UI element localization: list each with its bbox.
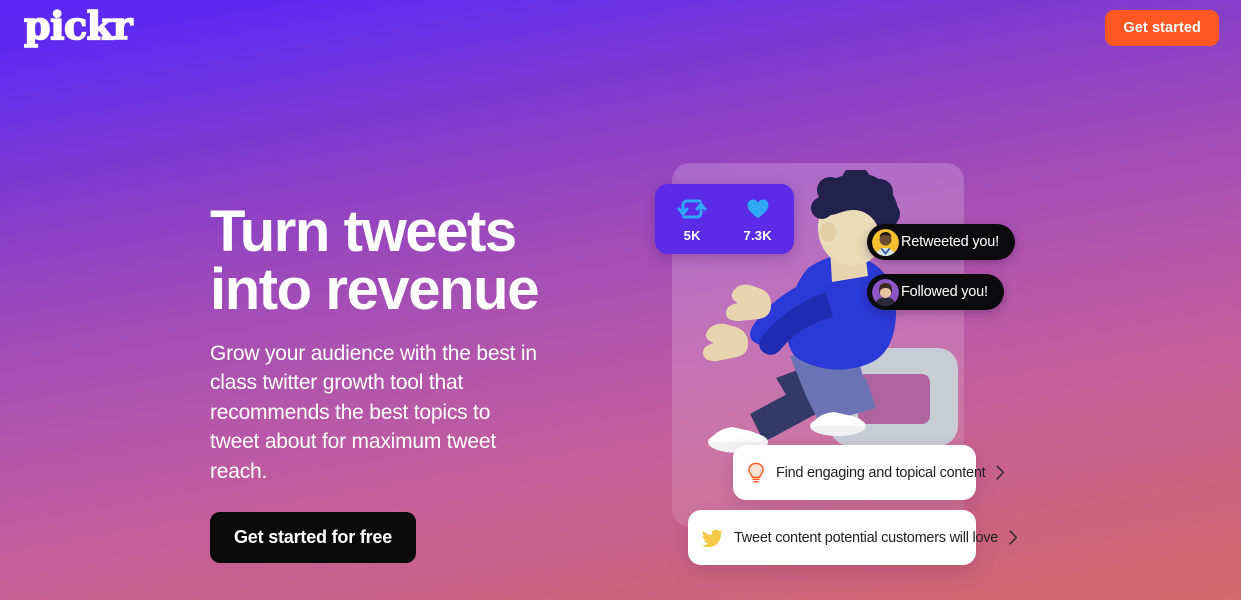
page-title: Turn tweets into revenue bbox=[210, 203, 680, 319]
hero-subtext: Grow your audience with the best in clas… bbox=[210, 339, 540, 486]
feature-card-find-content[interactable]: Find engaging and topical content bbox=[733, 445, 976, 500]
lightbulb-icon bbox=[747, 462, 765, 484]
notification-retweeted[interactable]: Retweeted you! bbox=[867, 224, 1015, 260]
feature-card-tweet-content[interactable]: Tweet content potential customers will l… bbox=[688, 510, 976, 565]
brand-logo[interactable]: pickr bbox=[24, 7, 132, 49]
hero-visual: 5K 7.3K Retweeted you! bbox=[650, 150, 1050, 580]
retweet-count: 5K bbox=[684, 228, 701, 243]
avatar-retweet-icon bbox=[872, 229, 899, 256]
retweet-icon bbox=[677, 198, 707, 225]
notification-retweeted-label: Retweeted you! bbox=[901, 234, 999, 250]
feature-card-tweet-content-label: Tweet content potential customers will l… bbox=[734, 530, 998, 546]
twitter-bird-icon bbox=[702, 529, 723, 547]
feature-card-find-content-label: Find engaging and topical content bbox=[776, 465, 985, 481]
stat-item-likes: 7.3K bbox=[744, 198, 772, 243]
hero-copy: Turn tweets into revenue Grow your audie… bbox=[210, 203, 680, 563]
get-started-for-free-button[interactable]: Get started for free bbox=[210, 512, 416, 563]
chevron-right-icon bbox=[996, 465, 1005, 480]
notification-followed-label: Followed you! bbox=[901, 284, 988, 300]
get-started-button[interactable]: Get started bbox=[1105, 10, 1219, 46]
site-header: pickr Get started bbox=[0, 0, 1241, 56]
chevron-right-icon bbox=[1009, 530, 1018, 545]
avatar-follow-icon bbox=[872, 279, 899, 306]
like-count: 7.3K bbox=[744, 228, 772, 243]
heart-icon bbox=[746, 198, 770, 225]
notification-followed[interactable]: Followed you! bbox=[867, 274, 1004, 310]
stat-item-retweets: 5K bbox=[677, 198, 707, 243]
